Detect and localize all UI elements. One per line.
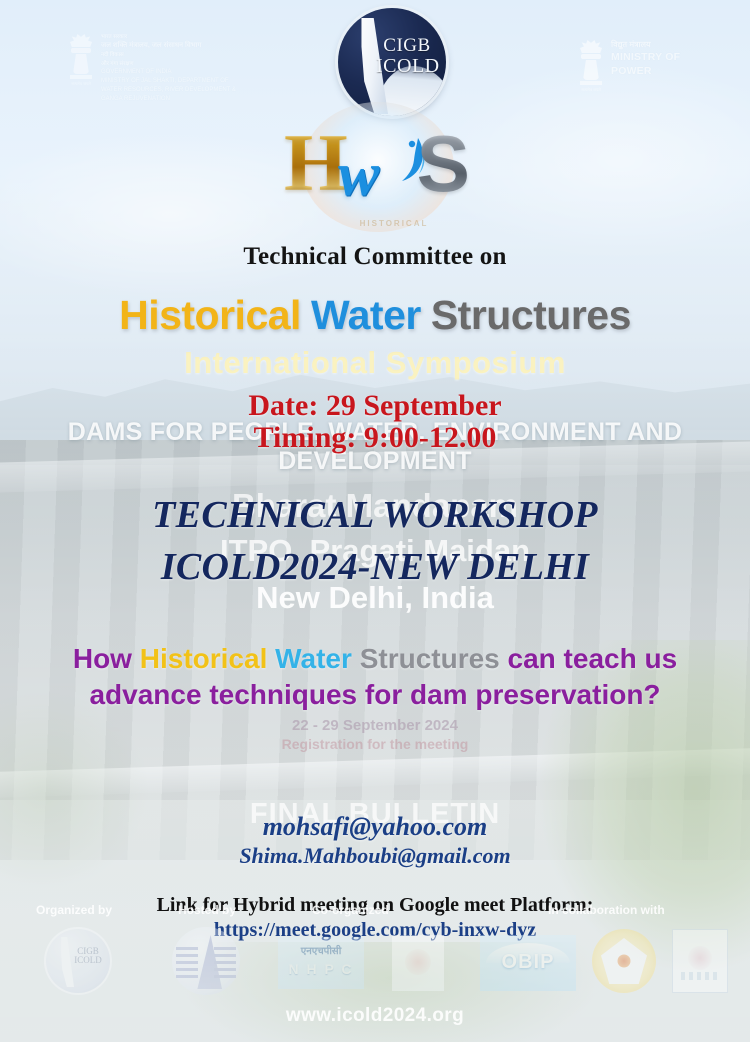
cigb-icold-logo: CIGB ICOLD (338, 8, 446, 116)
hws-logo: H w S HISTORICAL (276, 116, 488, 224)
page-title: HistoricalWaterStructures (0, 292, 750, 339)
question-space1 (267, 643, 275, 674)
emblem-left-english-3: WATER RESOURCES, RIVER DEVELOPMENT & (101, 87, 236, 94)
emblem-left-english-1: GOVERNMENT OF INDIA (101, 69, 236, 76)
ministry-english-line2: POWER (611, 65, 680, 77)
sponsor-logo-icold: CIGB ICOLD (44, 927, 112, 995)
title-word-water: Water (311, 292, 421, 338)
emblem-motto-left: सत्यमेव जयते (68, 80, 94, 88)
sponsor-logo-card-white (672, 929, 728, 993)
emblem-left-english-4: GANGA REJUVENATION (101, 96, 236, 103)
hws-logo-subtitle: HISTORICAL (334, 219, 454, 228)
sponsor-labels-row: Organized by Hosted by Co-organized In c… (0, 903, 750, 921)
contact-email-primary[interactable]: mohsafi@yahoo.com (0, 812, 750, 842)
question-part1: How (73, 643, 140, 674)
question-space2 (352, 643, 360, 674)
question-word-historical: Historical (140, 643, 268, 674)
sponsor-logos-row: CIGB ICOLD एनएचपीसी N H P C OBIP (0, 925, 750, 1001)
icold-logo-line2: ICOLD (376, 56, 438, 77)
sponsor-icold-line2: ICOLD (70, 956, 106, 965)
icold-logo-line1: CIGB (376, 36, 438, 56)
emblem-motto-right: सत्यमेव जयते (578, 86, 604, 94)
government-of-india-emblem-left: सत्यमेव जयते भारत सरकार जल शक्ति मंत्राल… (68, 32, 268, 102)
label-hosted-by: Hosted by (178, 903, 236, 917)
label-organized-by: Organized by (36, 903, 112, 917)
question-word-structures: Structures (360, 643, 500, 674)
event-timing: Timing: 9:00-12.00 (0, 421, 750, 455)
emblem-left-hindi-2: जल शक्ति मंत्रालय, जल संसाधन विभाग (101, 42, 236, 50)
sponsor-logo-nhpc: एनएचपीसी N H P C (278, 937, 364, 989)
title-word-structures: Structures (431, 292, 631, 338)
question-word-water: Water (275, 643, 352, 674)
ministry-hindi-label: विद्युत मंत्रालय (611, 40, 680, 49)
sponsor-logo-pentagon-gold (592, 929, 656, 993)
poster-root: International Symposium DAMS FOR PEOPLE,… (0, 0, 750, 1042)
workshop-title-line2: ICOLD2024-NEW DELHI (0, 545, 750, 589)
emblem-left-hindi-3: नदी विकास (101, 52, 236, 58)
sponsor-logo-obip: OBIP (480, 935, 576, 991)
emblem-left-english-2: MINISTRY OF JAL SHAKTI, DEPARTMENT OF (101, 78, 236, 85)
contact-email-secondary[interactable]: Shima.Mahboubi@gmail.com (0, 843, 750, 869)
sponsor-obip-text: OBIP (480, 951, 576, 974)
label-co-organized: Co-organized (312, 903, 389, 917)
emblem-left-hindi-4: और गंगा संरक्षण (101, 61, 236, 67)
event-date: Date: 29 September (0, 389, 750, 423)
ministry-english-line1: MINISTRY OF (611, 51, 680, 63)
workshop-question: How Historical Water Structures can teac… (40, 641, 710, 713)
hws-letter-w: w (338, 144, 379, 206)
sponsor-logo-generic-white (392, 935, 444, 991)
workshop-title-line1: TECHNICAL WORKSHOP (0, 493, 750, 537)
ashoka-pillar-icon: सत्यमेव जयते (68, 32, 94, 90)
ashoka-pillar-icon-right: सत्यमेव जयते (578, 38, 604, 96)
sponsor-nhpc-english: N H P C (278, 961, 364, 977)
label-in-collaboration-with: In collaboration with (548, 903, 665, 917)
ministry-of-power-emblem-right: सत्यमेव जयते विद्युत मंत्रालय MINISTRY O… (578, 38, 738, 104)
emblem-left-hindi-1: भारत सरकार (101, 34, 236, 40)
title-word-historical: Historical (119, 292, 301, 338)
sponsor-logo-cwc (172, 927, 240, 995)
hws-letter-s: S (417, 124, 470, 204)
sponsor-nhpc-hindi: एनएचपीसी (278, 943, 364, 957)
technical-committee-label: Technical Committee on (0, 243, 750, 271)
